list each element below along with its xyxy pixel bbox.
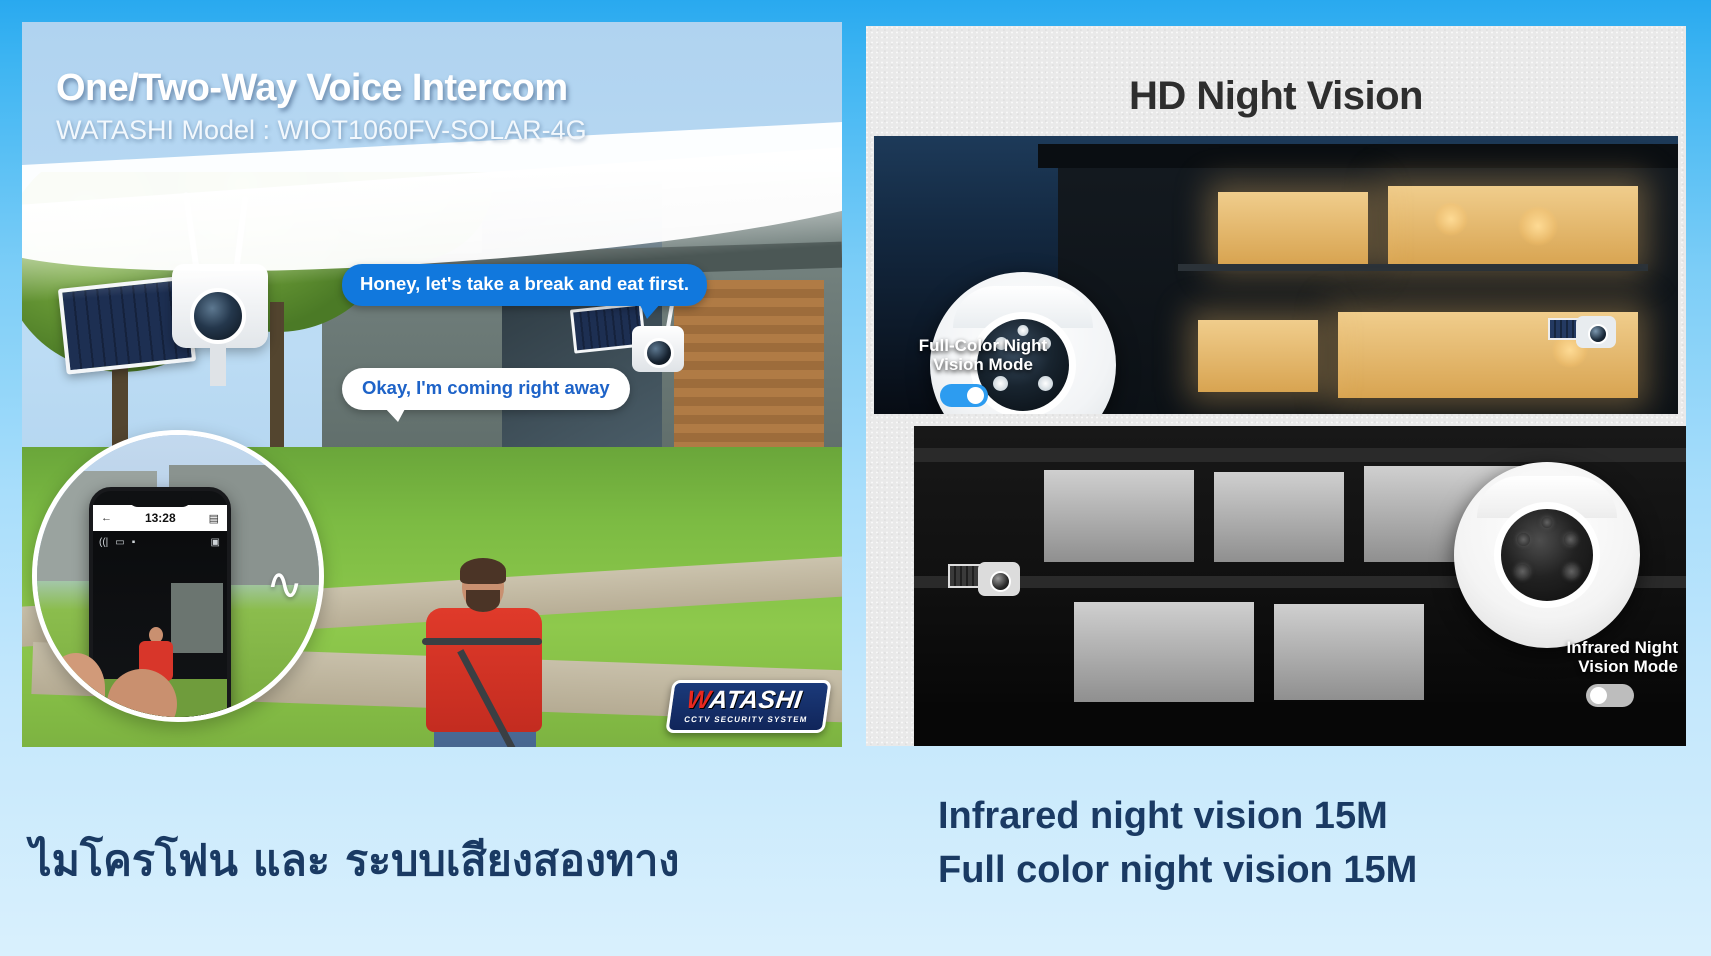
camera-lens	[644, 338, 674, 368]
night-building-roof	[1038, 144, 1678, 168]
camera-solar-panel	[948, 564, 982, 588]
ir-mode-camera-closeup	[1454, 462, 1640, 648]
infrared-led	[1564, 533, 1577, 546]
mode-label-line2: Vision Mode	[1468, 657, 1678, 676]
mode-label-line1: Infrared Night	[1468, 638, 1678, 657]
live-view-controls[interactable]: ((| ▭ ▪	[99, 537, 135, 548]
speech-bubble-two: Okay, I'm coming right away	[342, 368, 630, 410]
mower-handle-bar	[422, 638, 542, 645]
camera-mount-pole	[210, 344, 226, 386]
ir-window	[1044, 470, 1194, 562]
infrared-led	[1515, 564, 1530, 579]
watashi-logo: WATASHI CCTV SECURITY SYSTEM	[665, 680, 832, 733]
toggle-knob	[967, 387, 984, 404]
signal-icon: ((|	[99, 537, 108, 548]
white-led	[993, 376, 1008, 391]
ir-window	[1074, 602, 1254, 702]
balcony-rail	[1178, 264, 1648, 271]
phone-app-inset: ← 13:28 ▤ ((| ▭ ▪ ▣	[32, 430, 324, 722]
night-vision-title: HD Night Vision	[866, 74, 1686, 119]
page-title: One/Two-Way Voice Intercom	[56, 67, 568, 110]
house-wood-siding	[674, 280, 824, 470]
infrared-night-photo: Infrared Night Vision Mode	[914, 426, 1686, 746]
logo-wordmark: WATASHI	[685, 688, 812, 713]
infrared-mode-label: Infrared Night Vision Mode	[1468, 638, 1678, 676]
snapshot-icon[interactable]: ▣	[211, 537, 220, 548]
phone-status-bar: ← 13:28 ▤	[93, 505, 227, 531]
back-arrow-icon[interactable]: ←	[101, 512, 112, 524]
battery-icon: ▭	[115, 537, 124, 548]
ceiling-lamp	[1434, 202, 1468, 236]
speech-bubble-one: Honey, let's take a break and eat first.	[342, 264, 707, 306]
white-led	[1018, 325, 1029, 336]
phone-notch	[128, 491, 192, 507]
right-caption-line2: Full color night vision 15M	[938, 844, 1417, 898]
audio-wave-icon: ∿	[266, 563, 303, 607]
lit-window	[1218, 192, 1368, 264]
lit-window	[1388, 186, 1638, 266]
night-vision-panel: HD Night Vision Fu	[866, 26, 1686, 746]
camera-lens	[1588, 324, 1608, 344]
right-caption: Infrared night vision 15M Full color nig…	[938, 790, 1417, 898]
infrared-led	[1517, 533, 1530, 546]
left-caption-thai: ไมโครโฟน และ ระบบเสียงสองทาง	[30, 826, 679, 894]
white-led	[1038, 376, 1053, 391]
full-color-mode-label: Full-Color Night Vision Mode	[888, 336, 1078, 374]
ir-window	[1274, 604, 1424, 700]
live-view-house	[171, 583, 223, 653]
voice-intercom-panel: ← 13:28 ▤ ((| ▭ ▪ ▣	[22, 22, 842, 747]
infrared-led	[1564, 564, 1579, 579]
lit-window	[1198, 320, 1318, 392]
full-color-night-photo: Full-Color Night Vision Mode	[874, 136, 1678, 414]
sd-card-icon: ▪	[132, 537, 136, 548]
logo-rest: ATASHI	[707, 686, 803, 714]
menu-icon[interactable]: ▤	[209, 512, 219, 525]
toggle-knob	[1590, 687, 1607, 704]
full-color-mode-toggle[interactable]	[940, 384, 988, 407]
infrared-mode-toggle[interactable]	[1586, 684, 1634, 707]
ir-window	[1214, 472, 1344, 562]
ir-ground	[914, 702, 1686, 746]
ceiling-lamp	[1518, 206, 1558, 246]
person-hair	[460, 558, 506, 584]
mounted-camera	[1546, 308, 1616, 350]
logo-tagline: CCTV SECURITY SYSTEM	[683, 715, 808, 724]
infrared-led	[1542, 517, 1553, 528]
mode-label-line2: Vision Mode	[888, 355, 1078, 374]
phone-clock: 13:28	[145, 511, 176, 525]
person-shirt	[426, 608, 542, 732]
ir-mounted-camera	[942, 554, 1020, 600]
person-beard	[466, 590, 500, 612]
ir-roof-slab	[914, 448, 1686, 462]
camera-lens-closeup	[1494, 502, 1600, 608]
right-caption-line1: Infrared night vision 15M	[938, 790, 1417, 844]
hand-thumb	[47, 653, 105, 722]
mode-label-line1: Full-Color Night	[888, 336, 1078, 355]
camera-lens	[990, 571, 1011, 592]
model-subtitle: WATASHI Model : WIOT1060FV-SOLAR-4G	[56, 115, 587, 146]
